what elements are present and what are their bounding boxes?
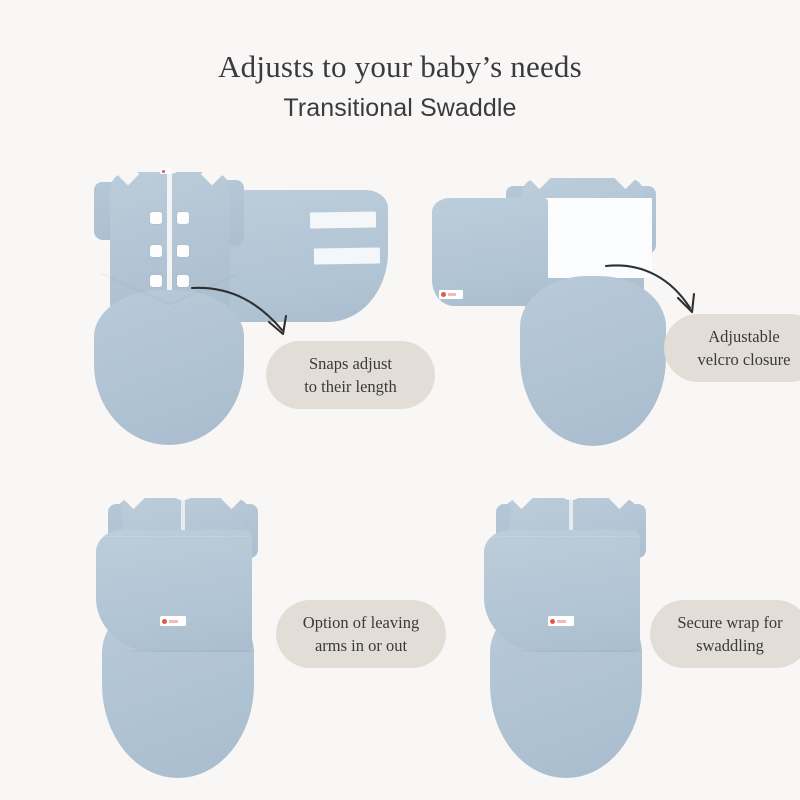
brand-dot-icon bbox=[162, 619, 167, 624]
infographic-canvas: Adjusts to your baby’s needs Transitiona… bbox=[0, 0, 800, 800]
brand-wordmark bbox=[169, 620, 184, 623]
brand-dot-icon bbox=[441, 292, 446, 297]
zipper bbox=[569, 498, 573, 534]
snap bbox=[150, 245, 162, 257]
callout-snaps[interactable]: Snaps adjust to their length bbox=[266, 341, 435, 409]
brand-wordmark bbox=[557, 620, 572, 623]
wrap-panel bbox=[484, 530, 640, 652]
zipper bbox=[181, 498, 185, 532]
velcro-strip-upper bbox=[310, 211, 376, 228]
page-subtitle: Transitional Swaddle bbox=[0, 93, 800, 123]
brand-dot-icon bbox=[162, 170, 165, 173]
snap bbox=[150, 212, 162, 224]
callout-secure-text: Secure wrap for swaddling bbox=[677, 611, 782, 658]
snap bbox=[177, 212, 189, 224]
wrap-bottom-seam bbox=[518, 650, 642, 652]
wrap-top-seam bbox=[488, 536, 638, 537]
arrow-to-snaps-callout bbox=[190, 278, 310, 348]
neckline-notch bbox=[572, 168, 594, 178]
velcro-strip-lower bbox=[314, 247, 380, 264]
brand-tag bbox=[160, 616, 186, 626]
snap bbox=[177, 275, 189, 287]
wrap-bottom-seam bbox=[130, 650, 254, 652]
page-title: Adjusts to your baby’s needs bbox=[0, 48, 800, 85]
zipper bbox=[167, 172, 172, 300]
brand-tag bbox=[548, 616, 574, 626]
brand-tag bbox=[439, 290, 463, 299]
callout-arms[interactable]: Option of leaving arms in or out bbox=[276, 600, 446, 668]
brand-wordmark bbox=[448, 293, 461, 296]
wrap-top-seam bbox=[100, 536, 250, 537]
callout-velcro-text: Adjustable velcro closure bbox=[698, 325, 791, 372]
neck-tag bbox=[160, 168, 171, 174]
callout-velcro[interactable]: Adjustable velcro closure bbox=[664, 314, 800, 382]
wrap-panel bbox=[96, 530, 252, 652]
callout-snaps-text: Snaps adjust to their length bbox=[304, 352, 397, 399]
snap bbox=[177, 245, 189, 257]
callout-arms-text: Option of leaving arms in or out bbox=[303, 611, 419, 658]
brand-dot-icon bbox=[550, 619, 555, 624]
header: Adjusts to your baby’s needs Transitiona… bbox=[0, 48, 800, 123]
snap bbox=[150, 275, 162, 287]
callout-secure[interactable]: Secure wrap for swaddling bbox=[650, 600, 800, 668]
